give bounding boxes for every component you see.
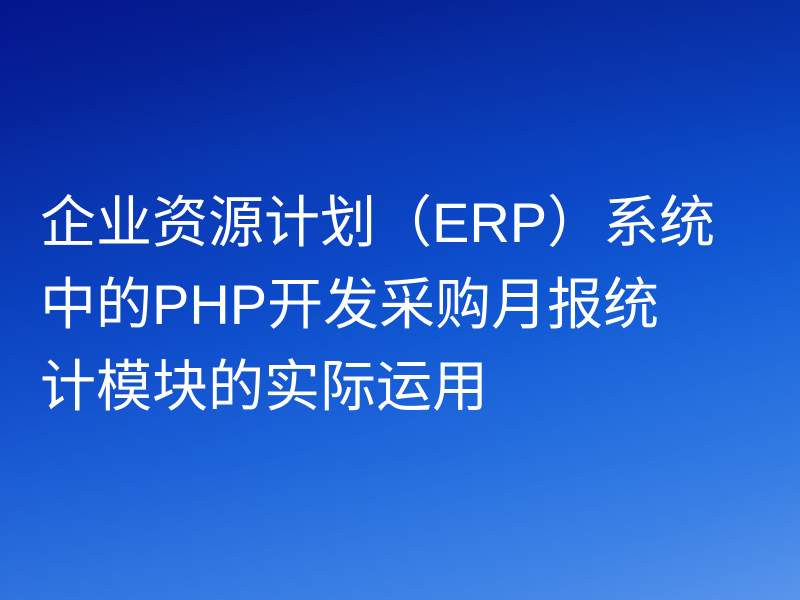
page-title: 企业资源计划（ERP）系统 中的PHP开发采购月报统 计模块的实际运用 bbox=[40, 182, 780, 428]
title-line-1: 企业资源计划（ERP）系统 bbox=[40, 182, 780, 264]
title-line-3: 计模块的实际运用 bbox=[40, 346, 780, 428]
title-line-2: 中的PHP开发采购月报统 bbox=[40, 264, 780, 346]
title-card: 企业资源计划（ERP）系统 中的PHP开发采购月报统 计模块的实际运用 bbox=[0, 0, 800, 600]
